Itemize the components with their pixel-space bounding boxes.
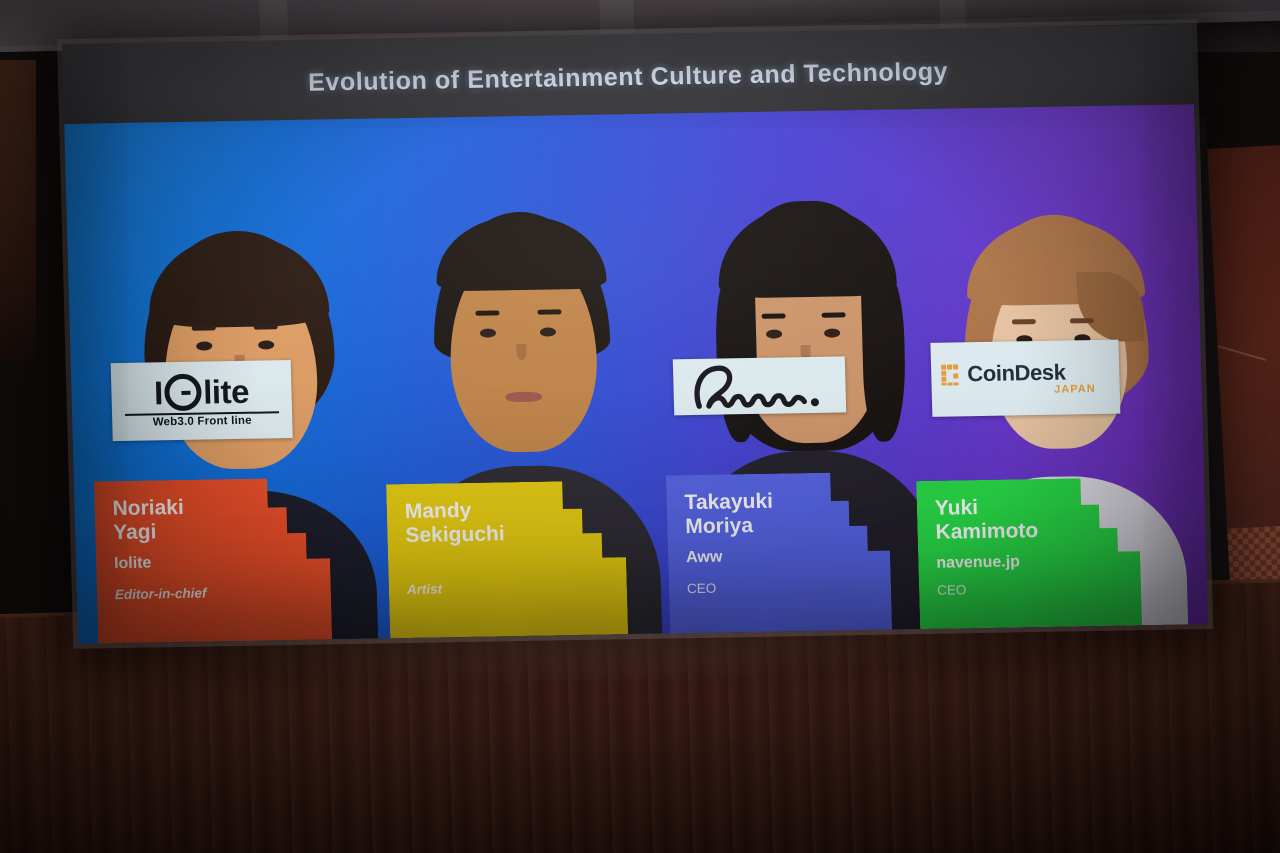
photo-of-conference-stage: Evolution of Entertainment Culture and T… [0, 0, 1280, 853]
speaker-role: Editor-in-chief [115, 583, 331, 602]
coindesk-logo: CoinDesk JAPAN [930, 340, 1120, 417]
speaker-role: Artist [407, 578, 627, 597]
speaker-role: CEO [937, 579, 1141, 598]
speaker-org: navenue.jp [936, 551, 1140, 573]
coindesk-logo-region: JAPAN [1054, 383, 1096, 396]
coindesk-logo-name: CoinDesk [967, 360, 1066, 388]
slide-title: Evolution of Entertainment Culture and T… [308, 57, 949, 97]
coindesk-mark-icon [941, 364, 963, 385]
signature-icon [677, 357, 842, 414]
iolite-logo-o-icon [164, 374, 202, 412]
speaker-org: Iolite [114, 551, 330, 573]
iolite-logo-i: I [154, 376, 163, 409]
speaker-role: CEO [687, 577, 891, 596]
signature-logo [673, 356, 846, 415]
speaker-org: Aww [686, 545, 890, 567]
iolite-logo-lite: lite [203, 375, 250, 409]
iolite-logo-tagline: Web3.0 Front line [153, 415, 252, 429]
slide-body: I lite Web3.0 Front line [64, 104, 1208, 644]
left-wall-accent [0, 60, 36, 360]
projection-screen: Evolution of Entertainment Culture and T… [62, 24, 1208, 644]
iolite-logo: I lite Web3.0 Front line [111, 360, 293, 441]
